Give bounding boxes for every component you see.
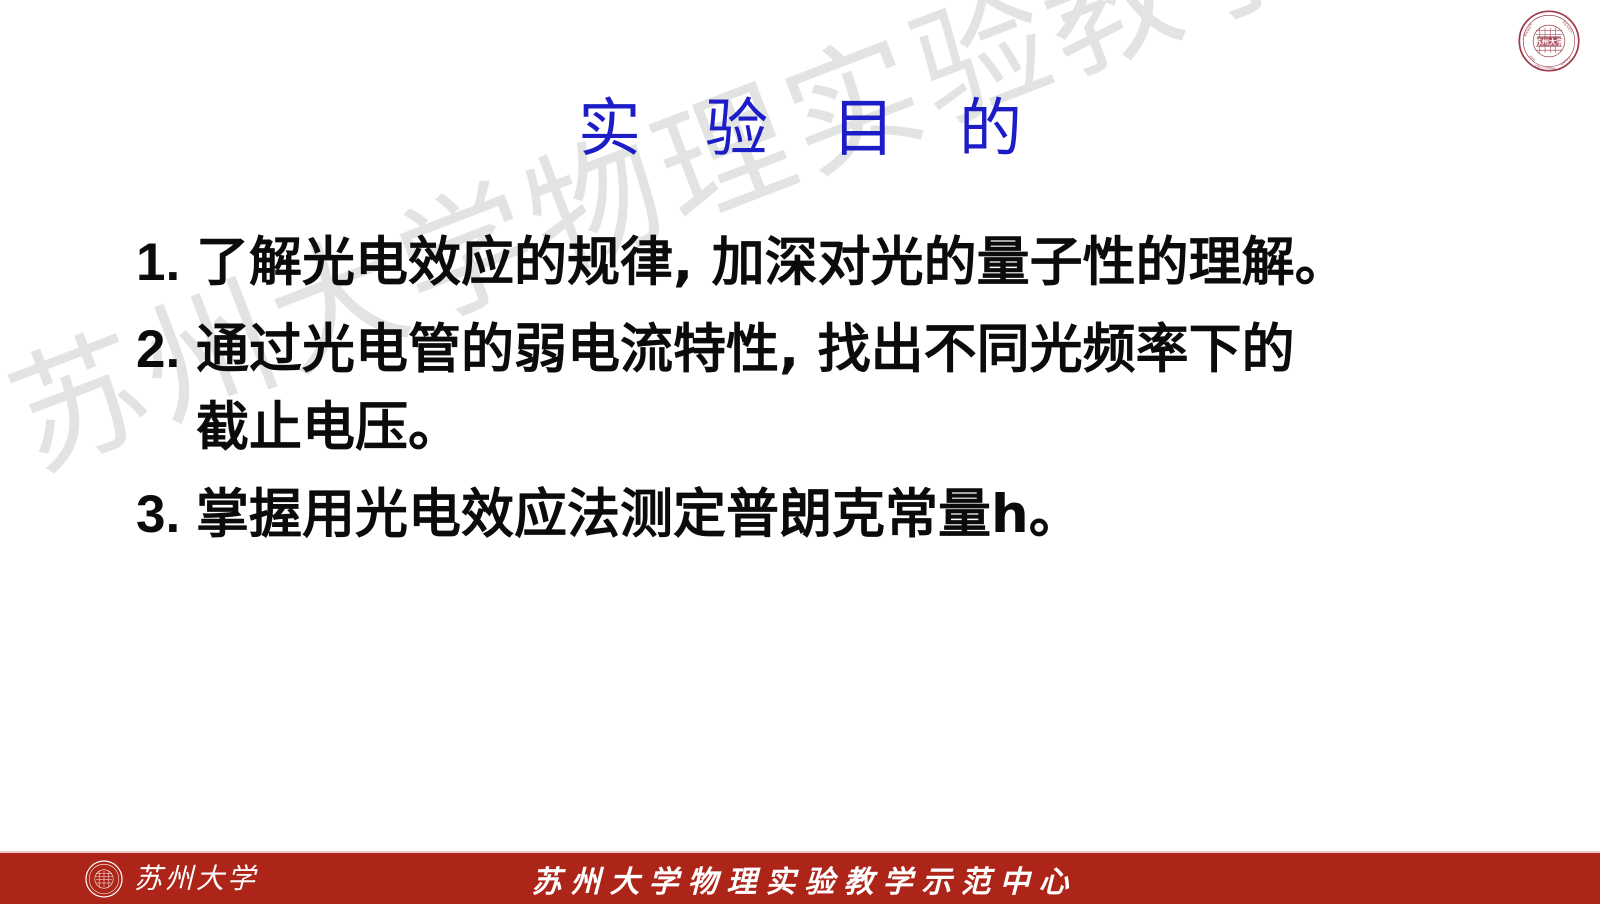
list-item-body: 掌握用光电效应法测定普朗克常量h。 [196,484,1536,545]
svg-text:苏州大学: 苏州大学 [1534,37,1563,46]
list-item: 3. 掌握用光电效应法测定普朗克常量h。 [136,484,1536,545]
list-item-line: 截止电压。 [196,397,1536,458]
list-item-body: 通过光电管的弱电流特性, 找出不同光频率下的 截止电压。 [196,319,1536,458]
footer-seal-icon [84,859,124,899]
list-item: 2. 通过光电管的弱电流特性, 找出不同光频率下的 截止电压。 [136,319,1536,458]
objectives-list: 1. 了解光电效应的规律, 加深对光的量子性的理解。 2. 通过光电管的弱电流特… [136,232,1536,572]
list-item-line: 了解光电效应的规律, 加深对光的量子性的理解。 [196,232,1536,293]
footer-logo-text: 苏州大学 [134,865,258,893]
list-item: 1. 了解光电效应的规律, 加深对光的量子性的理解。 [136,232,1536,293]
list-item-line: 通过光电管的弱电流特性, 找出不同光频率下的 [196,319,1536,380]
footer-bar: 苏州大学 苏州大学物理实验教学示范中心 [0,853,1600,904]
seal-icon: 苏州大学 养天地正气 法古今完人 UNTO A FULL GROWN MAN [1516,8,1582,74]
footer-center-text: 苏州大学物理实验教学示范中心 [523,857,1078,901]
footer-logo: 苏州大学 [84,857,258,900]
list-item-number: 2. [136,319,196,380]
slide-canvas: 苏州大学物理实验教学示范中心 苏州大学 养天地正气 法古今完人 UNTO A F… [0,0,1600,904]
university-seal-logo: 苏州大学 养天地正气 法古今完人 UNTO A FULL GROWN MAN [1516,8,1582,74]
page-title: 实 验 目 的 [0,78,1600,169]
list-item-body: 了解光电效应的规律, 加深对光的量子性的理解。 [196,232,1536,293]
list-item-line: 掌握用光电效应法测定普朗克常量h。 [196,484,1536,545]
list-item-number: 1. [136,232,196,293]
list-item-number: 3. [136,484,196,545]
